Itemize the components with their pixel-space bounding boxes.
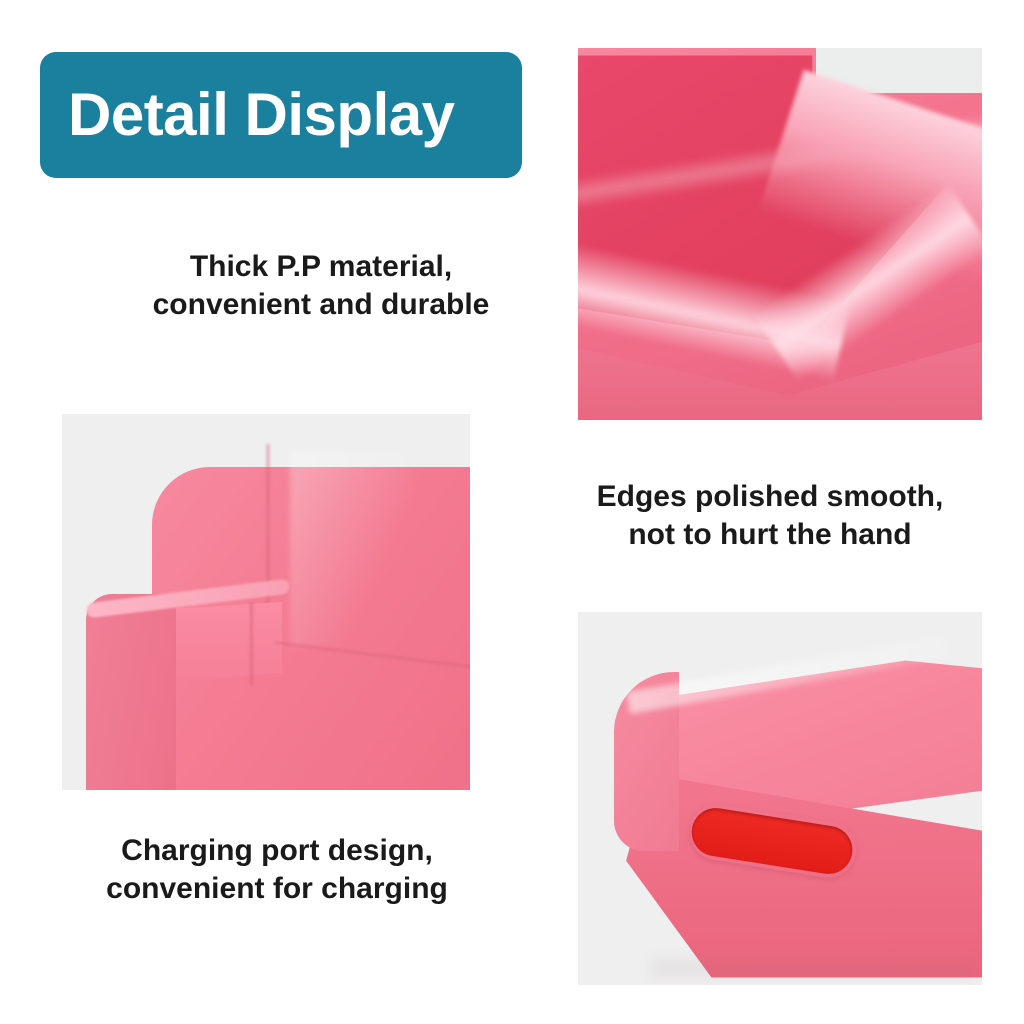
back-panel-sheen	[290, 452, 412, 648]
caption-thick-pp-material: Thick P.P material, convenient and durab…	[96, 248, 546, 325]
caption-charging-port: Charging port design, convenient for cha…	[52, 832, 502, 909]
box-drop-shadow	[651, 959, 974, 978]
photo-box-side-view	[62, 414, 470, 790]
detail-display-page: Detail Display Thick P.P material, conve…	[0, 0, 1024, 1024]
page-title-badge: Detail Display	[40, 52, 522, 178]
photo-box-interior	[578, 48, 982, 420]
box-side-scene	[62, 414, 470, 790]
box-front-wall-left	[86, 594, 176, 790]
box-inner-edge	[250, 602, 253, 685]
caption-edges-polished: Edges polished smooth, not to hurt the h…	[552, 478, 988, 555]
photo-charging-port	[578, 612, 982, 985]
charging-port-scene	[578, 612, 982, 985]
page-title: Detail Display	[40, 85, 455, 145]
box-interior-scene	[578, 48, 982, 420]
